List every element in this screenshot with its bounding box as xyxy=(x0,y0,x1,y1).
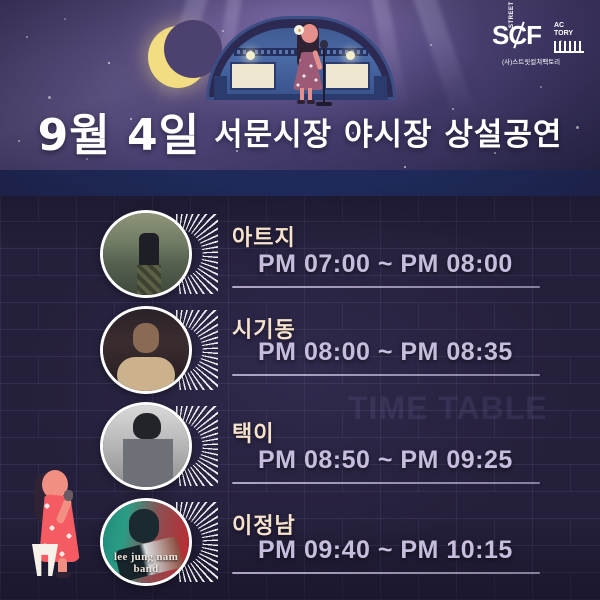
artist-photo-frame xyxy=(100,306,218,394)
logo-letter-f: F xyxy=(526,22,541,48)
logo-letter-s: S xyxy=(492,22,508,48)
artist-photo xyxy=(100,402,192,490)
photo-caption: lee jung nam band xyxy=(103,551,189,575)
event-date: 9월 4일 xyxy=(38,99,201,163)
seated-singer-illustration xyxy=(24,458,104,584)
event-poster: S C F STREET AC TORY (사)스트릿컬쳐팩토리 9월 4일 서… xyxy=(0,0,600,600)
performance-time: PM 08:00 ~ PM 08:35 xyxy=(258,338,513,367)
row-divider xyxy=(232,374,540,376)
handheld-microphone-icon xyxy=(64,490,73,501)
artist-photo xyxy=(100,306,192,394)
row-divider xyxy=(232,572,540,574)
schedule-row: 시기동 PM 08:00 ~ PM 08:35 xyxy=(0,302,600,398)
schedule-row: 아트지 PM 07:00 ~ PM 08:00 xyxy=(0,206,600,302)
artist-photo-frame: lee jung nam band xyxy=(100,498,218,586)
performance-time: PM 07:00 ~ PM 08:00 xyxy=(258,250,513,279)
logo-building-icon xyxy=(554,41,584,53)
performance-time: PM 08:50 ~ PM 09:25 xyxy=(258,446,513,475)
row-divider xyxy=(232,482,540,484)
street-culture-factory-logo[interactable]: S C F STREET AC TORY (사)스트릿컬쳐팩토리 xyxy=(492,22,588,66)
logo-korean-text: (사)스트릿컬쳐팩토리 xyxy=(502,56,560,66)
logo-tory-text: TORY xyxy=(554,30,573,38)
artist-photo-frame xyxy=(100,210,218,298)
logo-street-text: STREET xyxy=(509,1,515,28)
row-divider xyxy=(232,286,540,288)
artist-name: 아트지 xyxy=(232,220,296,252)
artist-photo xyxy=(100,210,192,298)
logo-ac-text: AC xyxy=(554,22,564,30)
artist-name: 택이 xyxy=(232,416,274,448)
event-subject: 서문시장 야시장 상설공연 xyxy=(214,109,562,154)
artist-photo: lee jung nam band xyxy=(100,498,192,586)
performance-time: PM 09:40 ~ PM 10:15 xyxy=(258,536,513,565)
artist-photo-frame xyxy=(100,402,218,490)
poster-headline: 9월 4일 서문시장 야시장 상설공연 xyxy=(0,100,600,162)
